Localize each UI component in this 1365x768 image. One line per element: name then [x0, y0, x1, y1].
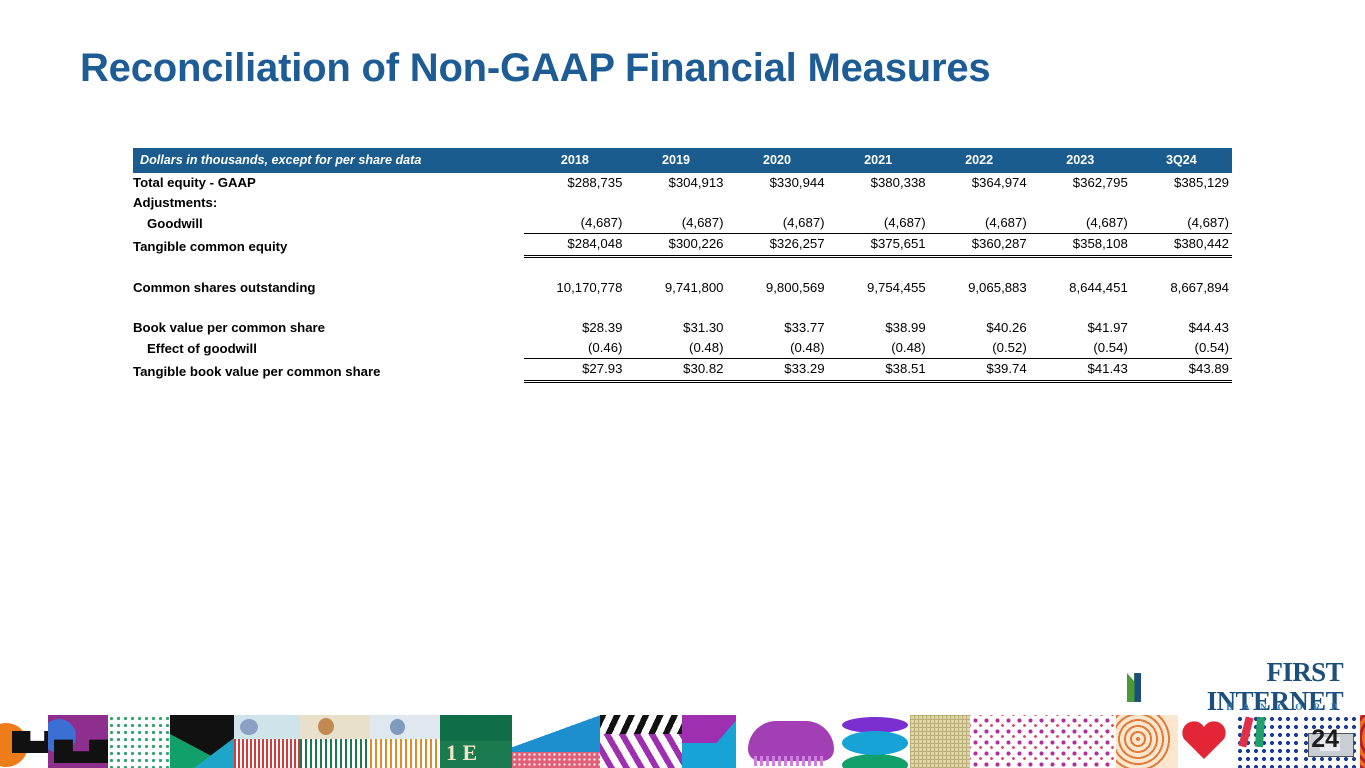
collage-tile — [682, 715, 736, 768]
collage-tile — [970, 715, 1116, 768]
cell: (0.52) — [929, 338, 1030, 359]
collage-tile — [300, 715, 370, 768]
table-row: Tangible common equity $284,048 $300,226… — [133, 234, 1232, 257]
cell: 10,170,778 — [524, 278, 625, 298]
table-header-row: Dollars in thousands, except for per sha… — [133, 148, 1232, 173]
table-row: Adjustments: — [133, 193, 1232, 213]
cell: $43.89 — [1131, 359, 1232, 382]
cell: $28.39 — [524, 318, 625, 338]
cell: $380,338 — [828, 173, 929, 193]
cell: $288,735 — [524, 173, 625, 193]
cell: $362,795 — [1030, 173, 1131, 193]
collage-tile — [1116, 715, 1178, 768]
cell: (4,687) — [1131, 213, 1232, 234]
cell: $300,226 — [625, 234, 726, 257]
collage-tile — [108, 715, 170, 768]
column-header-2022: 2022 — [929, 148, 1030, 173]
table-header: Dollars in thousands, except for per sha… — [133, 148, 1232, 173]
collage-tile — [48, 715, 108, 768]
cell: $30.82 — [625, 359, 726, 382]
cell — [625, 193, 726, 213]
logo-wordmark-row: FIRST INTERNET — [1127, 672, 1343, 702]
non-gaap-reconciliation-table: Dollars in thousands, except for per sha… — [133, 148, 1232, 383]
cell: $385,129 — [1131, 173, 1232, 193]
cell: $364,974 — [929, 173, 1030, 193]
collage-tile — [512, 715, 600, 768]
collage-tile — [1360, 715, 1365, 768]
table-body: Total equity - GAAP $288,735 $304,913 $3… — [133, 173, 1232, 382]
cell: (0.54) — [1030, 338, 1131, 359]
cell — [929, 193, 1030, 213]
table-row: Total equity - GAAP $288,735 $304,913 $3… — [133, 173, 1232, 193]
page-number: 24 — [1311, 727, 1339, 752]
cell — [1030, 193, 1131, 213]
row-label: Effect of goodwill — [133, 338, 524, 359]
column-header-3q24: 3Q24 — [1131, 148, 1232, 173]
cell: $358,108 — [1030, 234, 1131, 257]
cell — [1131, 193, 1232, 213]
cell: $38.99 — [828, 318, 929, 338]
collage-tile — [600, 715, 682, 768]
column-header-2020: 2020 — [727, 148, 828, 173]
collage-tile — [370, 715, 440, 768]
collage-tile — [736, 715, 840, 768]
cell: $304,913 — [625, 173, 726, 193]
cell: $38.51 — [828, 359, 929, 382]
financial-table-container: Dollars in thousands, except for per sha… — [133, 148, 1232, 383]
cell: $41.43 — [1030, 359, 1131, 382]
row-label: Tangible common equity — [133, 234, 524, 257]
collage-tile — [234, 715, 300, 768]
cell: (0.48) — [727, 338, 828, 359]
cell: 9,065,883 — [929, 278, 1030, 298]
column-header-2023: 2023 — [1030, 148, 1131, 173]
page-title: Reconciliation of Non-GAAP Financial Mea… — [80, 46, 990, 91]
table-row: Goodwill (4,687) (4,687) (4,687) (4,687)… — [133, 213, 1232, 234]
cell: (4,687) — [828, 213, 929, 234]
row-label: Goodwill — [133, 213, 524, 234]
collage-tile — [910, 715, 970, 768]
cell: 8,644,451 — [1030, 278, 1131, 298]
collage-tile — [0, 715, 48, 768]
cell: (0.54) — [1131, 338, 1232, 359]
collage-tile — [1178, 715, 1236, 768]
cell — [727, 193, 828, 213]
row-label: Adjustments: — [133, 193, 524, 213]
cell: (4,687) — [929, 213, 1030, 234]
row-label: Common shares outstanding — [133, 278, 524, 298]
company-logo: FIRST INTERNET B A N C O R P — [1127, 672, 1343, 716]
collage-tile — [840, 715, 910, 768]
table-row: Effect of goodwill (0.46) (0.48) (0.48) … — [133, 338, 1232, 359]
row-label: Tangible book value per common share — [133, 359, 524, 382]
logo-mark-icon — [1127, 673, 1141, 702]
cell: $31.30 — [625, 318, 726, 338]
table-row: Tangible book value per common share $27… — [133, 359, 1232, 382]
cell: 9,741,800 — [625, 278, 726, 298]
row-label: Book value per common share — [133, 318, 524, 338]
cell: (0.48) — [828, 338, 929, 359]
footer-decorative-collage — [0, 715, 1365, 768]
collage-tile — [440, 715, 512, 768]
column-header-2019: 2019 — [625, 148, 726, 173]
cell: $326,257 — [727, 234, 828, 257]
table-caption: Dollars in thousands, except for per sha… — [133, 148, 524, 173]
table-spacer-row — [133, 257, 1232, 279]
table-row: Book value per common share $28.39 $31.3… — [133, 318, 1232, 338]
cell: $39.74 — [929, 359, 1030, 382]
cell: $27.93 — [524, 359, 625, 382]
cell: $33.77 — [727, 318, 828, 338]
column-header-2018: 2018 — [524, 148, 625, 173]
cell: $41.97 — [1030, 318, 1131, 338]
cell: $284,048 — [524, 234, 625, 257]
collage-tile — [1236, 715, 1302, 768]
cell — [524, 193, 625, 213]
cell: (0.48) — [625, 338, 726, 359]
cell: 9,800,569 — [727, 278, 828, 298]
cell: $360,287 — [929, 234, 1030, 257]
cell: (4,687) — [625, 213, 726, 234]
cell: $380,442 — [1131, 234, 1232, 257]
cell: $33.29 — [727, 359, 828, 382]
cell: (4,687) — [1030, 213, 1131, 234]
table-row: Common shares outstanding 10,170,778 9,7… — [133, 278, 1232, 298]
cell: (4,687) — [727, 213, 828, 234]
collage-tile — [170, 715, 234, 768]
cell: $375,651 — [828, 234, 929, 257]
table-spacer-row — [133, 298, 1232, 318]
cell: $330,944 — [727, 173, 828, 193]
column-header-2021: 2021 — [828, 148, 929, 173]
cell: (4,687) — [524, 213, 625, 234]
row-label: Total equity - GAAP — [133, 173, 524, 193]
cell: (0.46) — [524, 338, 625, 359]
cell: $40.26 — [929, 318, 1030, 338]
cell: 9,754,455 — [828, 278, 929, 298]
cell: 8,667,894 — [1131, 278, 1232, 298]
cell: $44.43 — [1131, 318, 1232, 338]
cell — [828, 193, 929, 213]
